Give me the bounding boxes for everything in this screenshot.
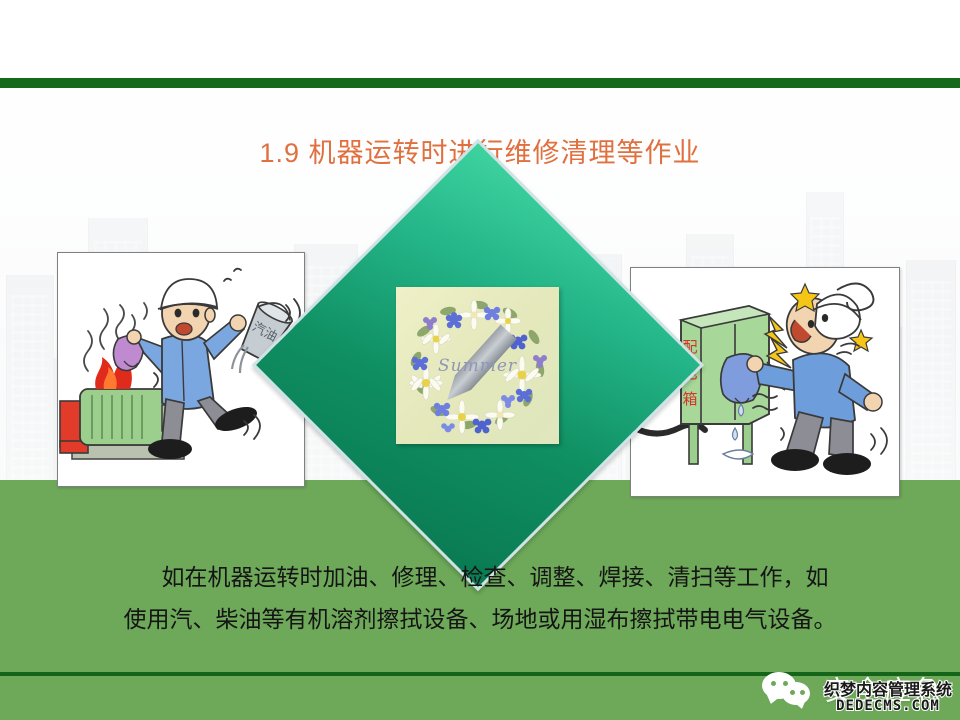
wechat-eye (800, 690, 805, 695)
wechat-eye (771, 681, 776, 686)
wechat-icon (762, 670, 814, 708)
top-green-rule (0, 78, 960, 88)
wreath-label: Summer (396, 356, 559, 376)
floral-wreath-summer-card: Summer (396, 287, 559, 444)
svg-text:箱: 箱 (682, 390, 697, 408)
wechat-eye (783, 681, 788, 686)
brand-name: 安全应急 (824, 669, 944, 708)
wechat-eye (790, 690, 795, 695)
slide-canvas: 1.9 机器运转时进行维修清理等作业 (0, 0, 960, 720)
body-text-line-1: 如在机器运转时加油、修理、检查、调整、焊接、清扫等工作，如 (60, 556, 900, 598)
body-text: 如在机器运转时加油、修理、检查、调整、焊接、清扫等工作，如 使用汽、柴油等有机溶… (60, 556, 900, 640)
footer-brand: 安全应急 (762, 669, 944, 708)
body-text-line-2: 使用汽、柴油等有机溶剂擦拭设备、场地或用湿布擦拭带电电气设备。 (60, 598, 900, 640)
center-diamond-graphic: Summer (318, 205, 638, 525)
